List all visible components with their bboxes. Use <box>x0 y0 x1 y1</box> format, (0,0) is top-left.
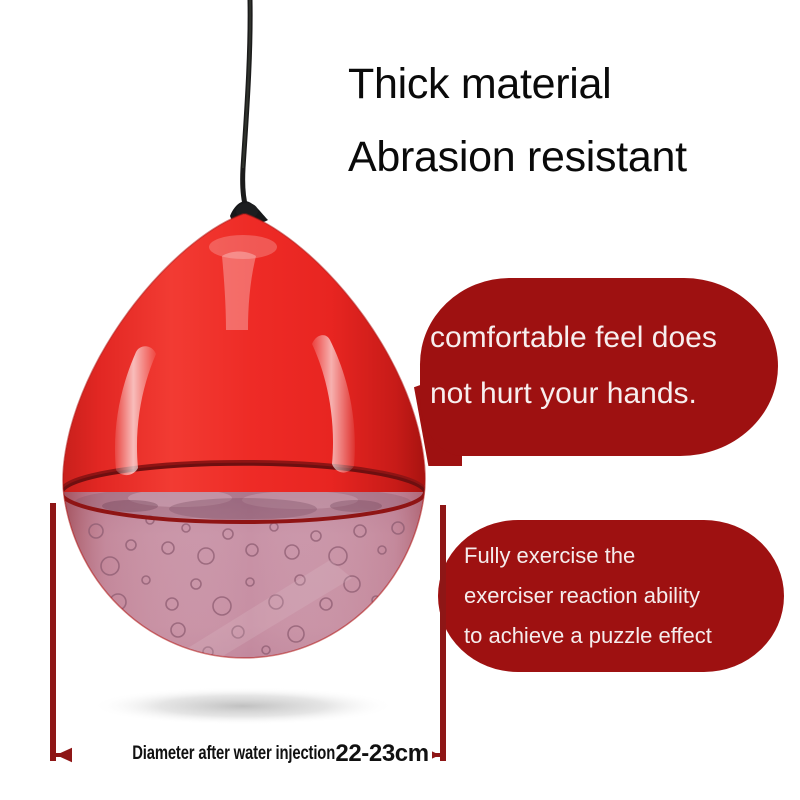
dimension-caption: Diameter after water injection 22-23cm <box>72 737 432 771</box>
headline: Thick material Abrasion resistant <box>348 48 800 194</box>
headline-line-1: Thick material <box>348 48 800 121</box>
speech-bubble-line-1: comfortable feel does <box>430 310 774 366</box>
balloon-shadow <box>91 687 395 725</box>
dimension-extension-line-left <box>50 503 56 761</box>
balloon-body-group <box>50 214 450 730</box>
balloon-neck-gloss <box>209 235 277 259</box>
feature-line-3: to achieve a puzzle effect <box>464 616 774 656</box>
dimension-extension-line-right <box>440 505 446 761</box>
feature-line-1: Fully exercise the <box>464 536 774 576</box>
dimension-value: 22-23cm <box>335 740 428 768</box>
dimension-label: Diameter after water injection <box>133 743 336 765</box>
headline-line-2: Abrasion resistant <box>348 121 800 194</box>
feature-callout-box: Fully exercise the exerciser reaction ab… <box>438 520 784 672</box>
speech-bubble: comfortable feel does not hurt your hand… <box>414 278 778 466</box>
feature-callout-text: Fully exercise the exerciser reaction ab… <box>464 536 774 656</box>
speech-bubble-line-2: not hurt your hands. <box>430 366 774 422</box>
speech-bubble-text: comfortable feel does not hurt your hand… <box>430 310 774 422</box>
product-marketing-image: Thick material Abrasion resistant comfor… <box>0 0 800 800</box>
feature-line-2: exerciser reaction ability <box>464 576 774 616</box>
